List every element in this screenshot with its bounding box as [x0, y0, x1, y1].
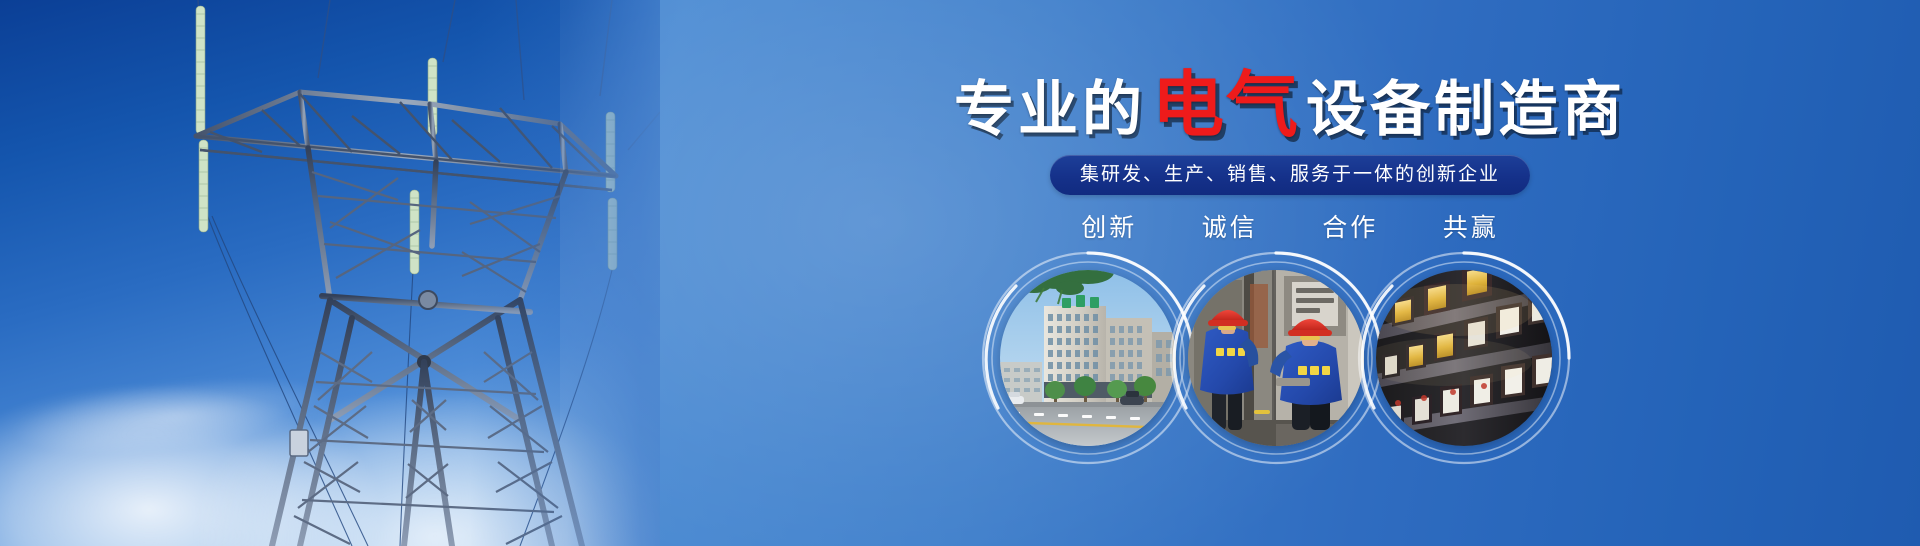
- photo-frame: [1188, 270, 1364, 446]
- certificates-wall-illustration: [1376, 270, 1552, 446]
- circle-photo-certificates: [1364, 258, 1564, 458]
- headline-part-1: 专业的: [954, 76, 1146, 143]
- photo-frame: [1000, 270, 1176, 446]
- headline-highlight: 电气: [1146, 66, 1306, 146]
- keyword-item-cooperation: 合作: [1322, 208, 1378, 244]
- circle-photo-group: [660, 258, 1920, 518]
- keyword-list: 创新 诚信 合作 共赢: [660, 208, 1920, 244]
- photo-frame: [1376, 270, 1552, 446]
- company-hero-banner: 专业的电气设备制造商 集研发、生产、销售、服务于一体的创新企业 创新 诚信 合作…: [0, 0, 1920, 546]
- equipment-box-icon: [290, 430, 308, 456]
- subtitle-pill: 集研发、生产、销售、服务于一体的创新企业: [1050, 155, 1530, 195]
- transmission-tower-photo: [0, 0, 660, 546]
- pylon-lattice-icon: [0, 0, 660, 546]
- keyword-item-innovation: 创新: [1081, 208, 1137, 244]
- keyword-item-integrity: 诚信: [1202, 208, 1258, 244]
- keyword-item-winwin: 共赢: [1443, 208, 1499, 244]
- page-title: 专业的电气设备制造商: [660, 72, 1920, 144]
- banner-content: 专业的电气设备制造商 集研发、生产、销售、服务于一体的创新企业 创新 诚信 合作…: [660, 0, 1920, 546]
- workers-illustration: [1188, 270, 1364, 446]
- office-building-illustration: [1000, 270, 1176, 446]
- headline-part-2: 设备制造商: [1306, 76, 1626, 143]
